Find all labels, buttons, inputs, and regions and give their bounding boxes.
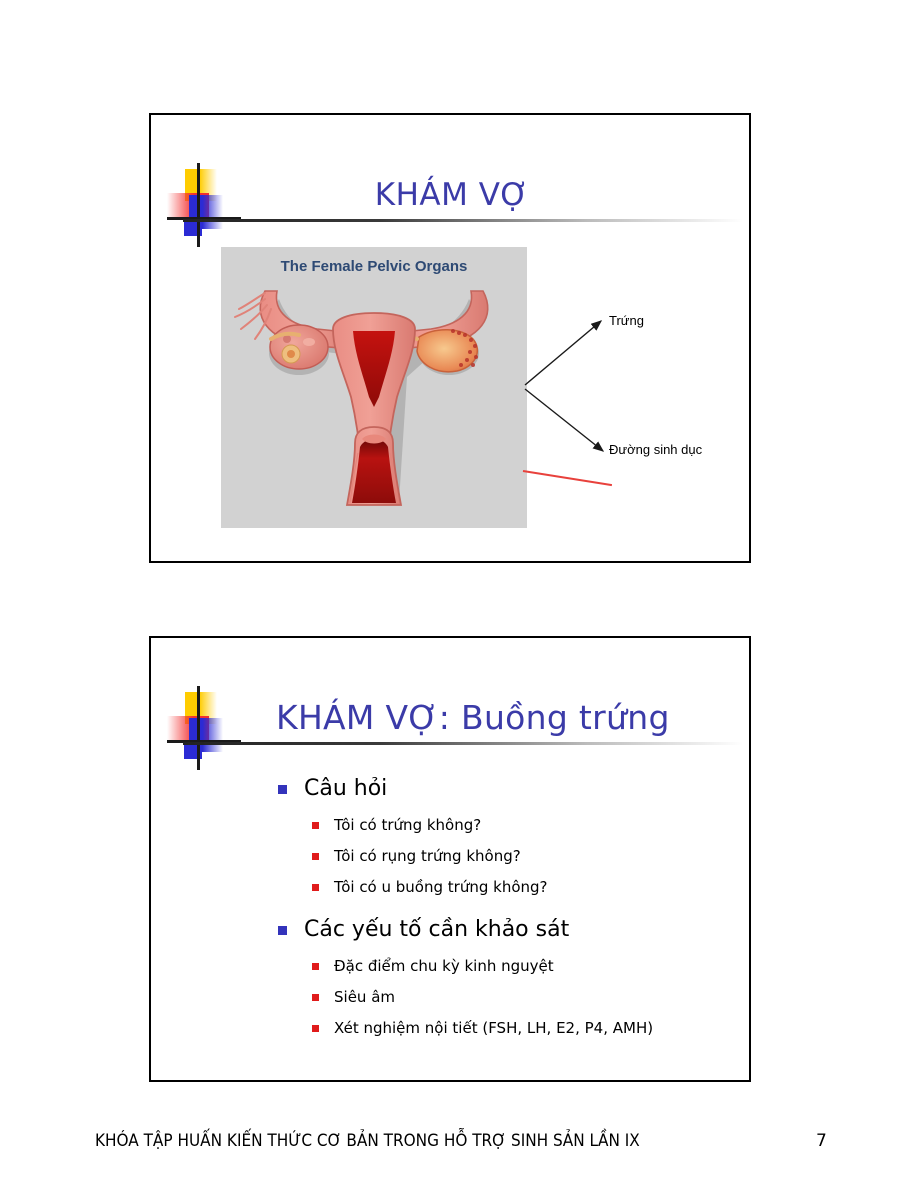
footer-course-title: KHÓA TẬP HUẤN KIẾN THỨC CƠ BẢN TRONG HỖ …: [95, 1131, 640, 1151]
bullet-marker-level2: [312, 1025, 319, 1032]
bullet-item: Xét nghiệm nội tiết (FSH, LH, E2, P4, AM…: [276, 1013, 736, 1043]
slide-2[interactable]: KHÁM VỢ: Buồng trứng Câu hỏi Tôi có trứn…: [149, 636, 751, 1082]
figure-caption: The Female Pelvic Organs: [221, 258, 527, 275]
bullet-text: Tôi có rụng trứng không?: [334, 847, 521, 865]
bullet-item: Tôi có u buồng trứng không?: [276, 872, 736, 902]
page-footer: KHÓA TẬP HUẤN KIẾN THỨC CƠ BẢN TRONG HỖ …: [0, 1131, 900, 1161]
bullet-section-heading: Các yếu tố cần khảo sát: [276, 913, 736, 947]
bullet-marker-level2: [312, 963, 319, 970]
logo-vertical-bar: [197, 686, 200, 770]
footer-page-number: 7: [816, 1131, 827, 1151]
decorative-logo: [167, 686, 241, 770]
arrow-to-trung: [525, 321, 601, 385]
bullet-text: Tôi có trứng không?: [334, 816, 481, 834]
bullet-text: Các yếu tố cần khảo sát: [304, 917, 569, 942]
bullet-marker-level1: [278, 785, 287, 794]
bullet-text: Xét nghiệm nội tiết (FSH, LH, E2, P4, AM…: [334, 1019, 653, 1037]
bullet-marker-level2: [312, 822, 319, 829]
bullet-item: Tôi có rụng trứng không?: [276, 841, 736, 871]
bullet-text: Tôi có u buồng trứng không?: [334, 878, 548, 896]
slide-2-title: KHÁM VỢ: Buồng trứng: [276, 698, 670, 737]
slide-1[interactable]: KHÁM VỢ: [149, 113, 751, 563]
slide-2-content-list: Câu hỏi Tôi có trứng không? Tôi có rụng …: [276, 772, 736, 1044]
female-pelvic-organs-illustration: [221, 247, 527, 528]
bullet-text: Siêu âm: [334, 988, 395, 1006]
bullet-item: Tôi có trứng không?: [276, 810, 736, 840]
female-pelvic-organs-figure: The Female Pelvic Organs: [221, 247, 527, 528]
bullet-section-heading: Câu hỏi: [276, 772, 736, 806]
arrow-to-duong-sinh-duc: [525, 389, 603, 451]
callout-label-trung: Trứng: [609, 313, 644, 328]
bullet-text: Đặc điểm chu kỳ kinh nguyệt: [334, 957, 554, 975]
bullet-item: Đặc điểm chu kỳ kinh nguyệt: [276, 951, 736, 981]
bullet-marker-level2: [312, 884, 319, 891]
bullet-marker-level2: [312, 853, 319, 860]
slide-1-title: KHÁM VỢ: [151, 177, 751, 213]
slide-1-title-rule: [183, 219, 743, 222]
bullet-item: Siêu âm: [276, 982, 736, 1012]
bullet-text: Câu hỏi: [304, 776, 387, 801]
bullet-marker-level1: [278, 926, 287, 935]
section-spacer: [276, 903, 736, 913]
slide-2-title-rule: [183, 742, 743, 745]
bullet-marker-level2: [312, 994, 319, 1001]
callout-label-duong-sinh-duc: Đường sinh dục: [609, 442, 702, 457]
